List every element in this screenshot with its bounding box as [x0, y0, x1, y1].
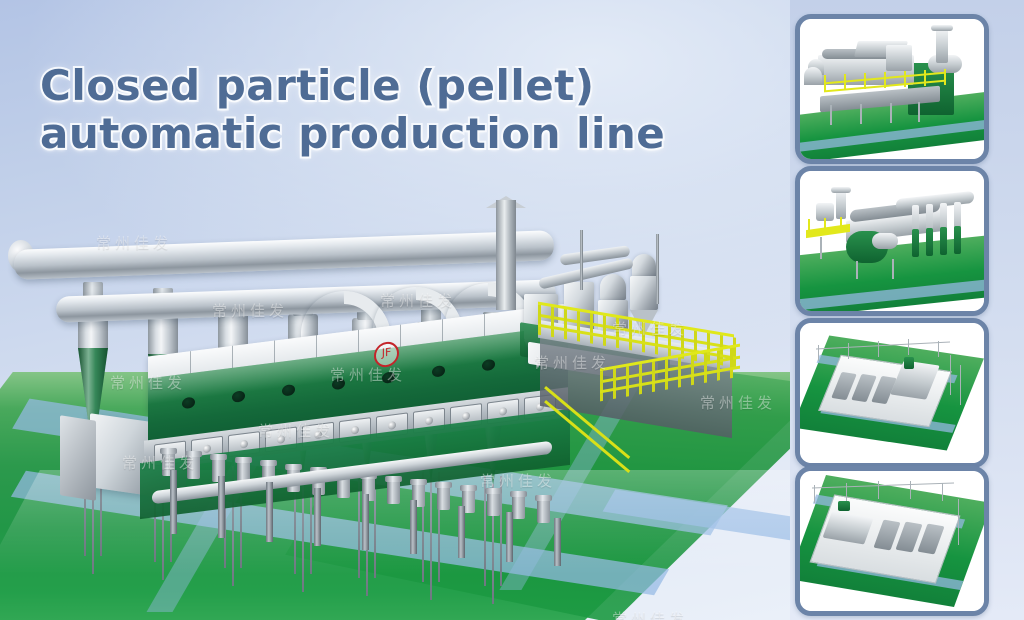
thumbnail-2[interactable] [795, 166, 989, 316]
dryer-sight-port [332, 378, 345, 391]
vibration-motor [387, 480, 400, 504]
banner-stage: JF 常州佳发常州佳发常州佳发常州佳发常州 [0, 0, 1024, 620]
headline-line-1: Closed particle (pellet) [40, 62, 680, 110]
tower-pipe [656, 234, 659, 304]
vibration-motor [437, 486, 450, 510]
vibration-motor [512, 495, 525, 519]
dryer-sight-port [382, 371, 395, 384]
thumbnail-3-image [800, 323, 984, 463]
support-post [362, 494, 369, 550]
dryer-sight-port [182, 397, 195, 410]
dryer-sight-port [432, 365, 445, 378]
support-post [506, 512, 513, 562]
thumbnail-1-image [800, 19, 984, 159]
tower-pipe [580, 230, 583, 290]
support-post [554, 518, 561, 566]
vibration-motor [537, 499, 550, 523]
support-post [170, 470, 177, 534]
thumbnail-1[interactable] [795, 14, 989, 164]
thumbnail-4-image [800, 471, 984, 611]
tower-vessel [630, 276, 658, 310]
support-post [410, 500, 417, 554]
thumbnail-2-image [800, 171, 984, 311]
thumbnail-4[interactable] [795, 466, 989, 616]
dryer-sight-port [482, 359, 495, 372]
tower-vessel [600, 274, 626, 300]
vibration-motor [187, 455, 200, 479]
control-cabinet [60, 415, 96, 501]
support-post [314, 488, 321, 546]
page-title: Closed particle (pellet) automatic produ… [40, 62, 680, 159]
dryer-sight-port [232, 390, 245, 403]
thumbnail-3[interactable] [795, 318, 989, 468]
support-post [266, 482, 273, 542]
vibration-motor [487, 492, 500, 516]
support-post [218, 476, 225, 538]
support-post [458, 506, 465, 558]
headline-line-2: automatic production line [40, 110, 680, 158]
tower-vessel [632, 254, 656, 276]
dryer-sight-port [282, 384, 295, 397]
exhaust-stack [496, 200, 516, 310]
